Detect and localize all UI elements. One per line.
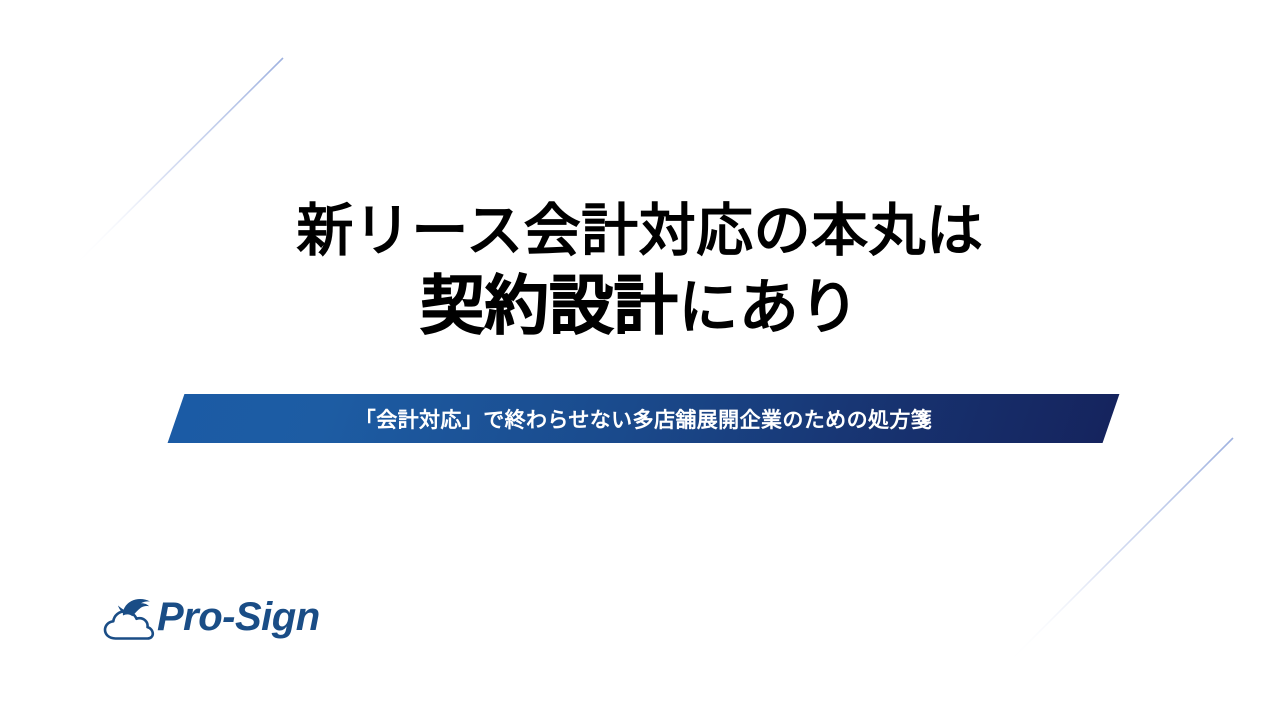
title-line-1: 新リース会計対応の本丸は bbox=[0, 200, 1280, 264]
subtitle-text: 「会計対応」で終わらせない多店舗展開企業のための処方箋 bbox=[176, 394, 1111, 443]
diagonal-accent-line-bottom-right bbox=[985, 430, 1280, 670]
title-emphasis: 契約設計 bbox=[420, 270, 678, 342]
title-line-2: 契約設計にあり bbox=[0, 271, 1280, 343]
logo: Pro-Sign bbox=[103, 586, 320, 642]
title-slide: 新リース会計対応の本丸は 契約設計にあり 「会計対応」で終わらせない多店舗展開企… bbox=[0, 0, 1280, 716]
dolphin-cloud-icon bbox=[103, 592, 155, 642]
title-tail: にあり bbox=[678, 274, 860, 341]
page-title: 新リース会計対応の本丸は 契約設計にあり bbox=[0, 200, 1280, 343]
logo-text: Pro-Sign bbox=[157, 597, 320, 642]
